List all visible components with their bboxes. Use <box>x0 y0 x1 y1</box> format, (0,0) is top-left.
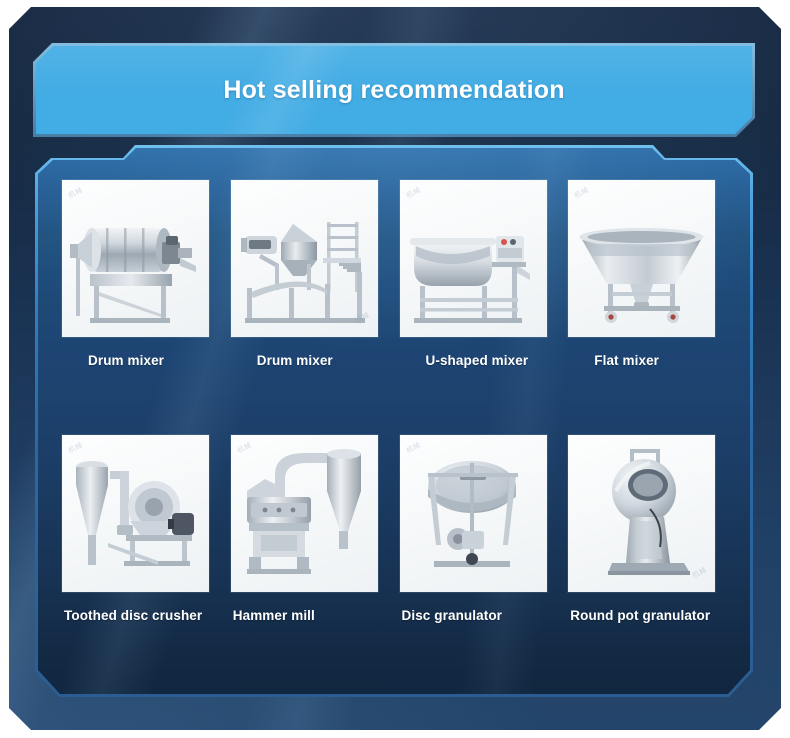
product-card[interactable]: 机械 Drum mixer <box>62 180 222 429</box>
product-label: U-shaped mixer <box>400 353 560 368</box>
poster-page: Hot selling recommendation <box>0 0 790 738</box>
product-label: Disc granulator <box>400 608 560 623</box>
product-label: Toothed disc crusher <box>62 608 222 623</box>
product-image[interactable]: 机械 <box>568 180 715 337</box>
double-cone-drum-mixer-icon <box>231 180 378 337</box>
product-card[interactable]: 机械 Toothed disc crusher <box>62 435 222 684</box>
product-label: Flat mixer <box>568 353 728 368</box>
product-card[interactable]: 机械 Disc granulator <box>400 435 560 684</box>
product-card[interactable]: 机械 Round pot granulator <box>568 435 728 684</box>
product-image[interactable]: 机械 <box>400 180 547 337</box>
product-label: Round pot granulator <box>568 608 728 623</box>
content-panel: 机械 Drum mixer <box>38 148 750 694</box>
horizontal-drum-mixer-icon <box>62 180 209 337</box>
flat-bowl-mixer-icon <box>568 180 715 337</box>
product-image[interactable]: 机械 <box>62 435 209 592</box>
product-image[interactable]: 机械 <box>231 435 378 592</box>
product-image[interactable]: 机械 <box>568 435 715 592</box>
u-shaped-ribbon-mixer-icon <box>400 180 547 337</box>
hammer-mill-icon <box>231 435 378 592</box>
product-image[interactable]: 机械 <box>400 435 547 592</box>
product-label: Hammer mill <box>231 608 391 623</box>
product-image[interactable]: 机械 <box>231 180 378 337</box>
product-label: Drum mixer <box>62 353 222 368</box>
product-card[interactable]: 机械 U-shaped mixer <box>400 180 560 429</box>
page-title: Hot selling recommendation <box>36 46 752 134</box>
poster-frame: Hot selling recommendation <box>9 7 781 730</box>
disc-granulator-icon <box>400 435 547 592</box>
toothed-disc-crusher-icon <box>62 435 209 592</box>
product-card[interactable]: 机械 Flat mixer <box>568 180 728 429</box>
product-card[interactable]: 机械 Drum mixer <box>231 180 391 429</box>
round-pot-granulator-icon <box>568 435 715 592</box>
product-card[interactable]: 机械 Hammer mill <box>231 435 391 684</box>
product-label: Drum mixer <box>231 353 391 368</box>
product-image[interactable]: 机械 <box>62 180 209 337</box>
header-banner: Hot selling recommendation <box>36 46 752 134</box>
product-grid: 机械 Drum mixer <box>38 148 750 694</box>
